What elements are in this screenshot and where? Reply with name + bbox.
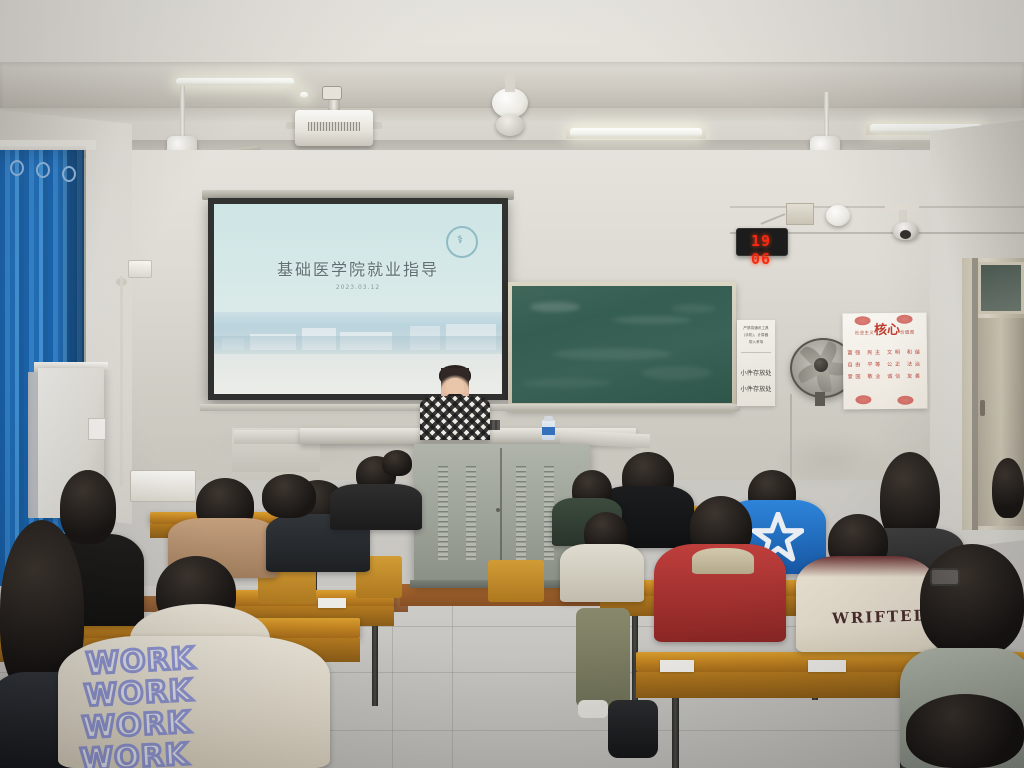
ceiling-projector: [295, 110, 373, 146]
eyeglasses-icon: [930, 568, 960, 586]
wall-control-unit[interactable]: [130, 470, 196, 502]
camera-lens-icon: [900, 230, 911, 239]
notice-line-2: (手机)、计算器: [737, 333, 775, 338]
poster-heading: 社会主义核心价值观: [843, 319, 927, 340]
core-values-row-2: 自由 平等 公正 法治: [843, 361, 927, 369]
ceiling-light-stem: [505, 74, 515, 92]
teacher-speaker: [420, 396, 490, 440]
fluorescent-tube: [176, 78, 294, 85]
wall-conduit: [120, 276, 123, 486]
university-logo-glyph: ⚕: [452, 234, 468, 247]
notice-line-1: 严禁将通讯工具: [737, 326, 775, 331]
fan-wall-bracket: [815, 392, 825, 406]
front-desk-left: [234, 430, 308, 444]
curtain-ring: [36, 162, 50, 178]
paper-sheet[interactable]: [660, 660, 694, 672]
student-varsity-jacket: [796, 556, 936, 652]
poster-ornament-icon: [855, 395, 871, 404]
projector-vent: [308, 122, 360, 131]
curtain-ring: [62, 166, 76, 182]
poster-suffix: 价值观: [900, 331, 914, 336]
ceiling-fan-rod: [824, 92, 829, 138]
student-torso: [560, 544, 644, 602]
door-handle[interactable]: [980, 400, 985, 416]
core-values-row-3: 爱国 敬业 诚信 友善: [843, 373, 927, 381]
student-head: [992, 458, 1024, 518]
wall-switch-box[interactable]: [128, 260, 152, 278]
backpack[interactable]: [608, 700, 658, 758]
storage-label-2: 小件存放处: [737, 384, 775, 393]
blackboard[interactable]: [512, 286, 732, 403]
door-window: [978, 262, 1024, 314]
projector-bracket: [322, 86, 342, 100]
cabinet-label: [88, 418, 106, 440]
student-head: [906, 694, 1024, 768]
student-head: [60, 470, 116, 544]
slide-title: 基础医学院就业指导: [214, 256, 502, 280]
poster-ornament-icon: [897, 396, 913, 405]
student-head: [262, 474, 316, 518]
storage-label-1: 小件存放处: [737, 368, 775, 377]
student-legs: [576, 608, 630, 708]
storage-notice-poster: 严禁将通讯工具 (手机)、计算器 带入考场 小件存放处 小件存放处: [737, 320, 775, 406]
student-head: [382, 450, 412, 476]
paper-sheet[interactable]: [808, 660, 846, 672]
slide-date: 2023.03.12: [214, 284, 502, 291]
curtain-ring: [10, 160, 24, 176]
smoke-detector-icon: [826, 205, 850, 226]
poster-prefix: 社会主义: [855, 331, 874, 336]
notice-line-3: 带入考场: [737, 340, 775, 345]
student-torso: [330, 484, 422, 530]
paper-sheet[interactable]: [318, 598, 346, 608]
core-values-row-1: 富强 民主 文明 和谐: [843, 349, 927, 357]
ceiling-light-shade: [496, 114, 524, 136]
student-hood-collar: [692, 548, 754, 574]
student-shoe: [578, 700, 608, 718]
hoodie-text-line-4: WORK: [79, 737, 190, 768]
clock-time-display: 19 06: [740, 232, 782, 250]
fluorescent-tube: [300, 92, 308, 98]
poster-big-word: 核心: [874, 323, 900, 338]
classroom-photo: ⚕ 基础医学院就业指导 2023.03.12 19 06: [0, 0, 1024, 768]
student-head: [920, 544, 1024, 656]
bottle-label: [542, 427, 555, 435]
wall-trim-line: [730, 206, 1024, 208]
bottle-cap: [544, 416, 553, 421]
core-values-poster: 社会主义核心价值观 富强 民主 文明 和谐 自由 平等 公正 法治 爱国 敬业 …: [842, 313, 927, 410]
electrical-box[interactable]: [786, 203, 814, 225]
fan-power-cord: [790, 394, 792, 490]
fan-hub: [814, 358, 828, 372]
seat-back[interactable]: [488, 560, 544, 602]
varsity-jacket-text: WRIFTED: [832, 606, 929, 627]
ceiling-fan-rod: [180, 86, 185, 138]
fluorescent-tube: [570, 128, 702, 137]
cabinet-knob[interactable]: [496, 508, 500, 512]
